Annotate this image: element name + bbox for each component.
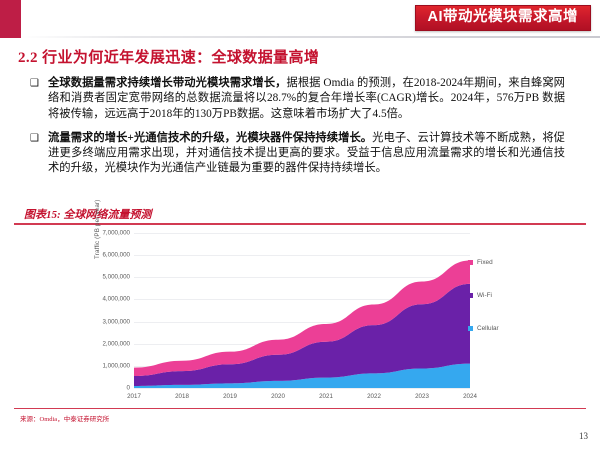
legend-label: Cellular — [477, 325, 499, 332]
legend-swatch-icon — [468, 326, 473, 331]
x-tick-label: 2020 — [271, 393, 285, 400]
figure-source: 来源：Omdia，中泰证券研究所 — [20, 413, 109, 423]
y-tick-label: 0 — [127, 385, 130, 392]
page-number: 13 — [579, 431, 588, 441]
legend-label: Fixed — [477, 259, 493, 266]
plot-area: 01,000,0002,000,0003,000,0004,000,0005,0… — [134, 233, 470, 388]
bullet-square-icon: ❑ — [30, 76, 42, 91]
legend-item[interactable]: Fixed — [468, 259, 538, 266]
legend-item[interactable]: Wi-Fi — [468, 292, 538, 299]
header-banner-title: AI带动光模块需求高增 — [415, 5, 592, 31]
y-tick-label: 4,000,000 — [102, 296, 130, 303]
area-series-svg — [134, 233, 470, 388]
section-title: 2.2 行业为何近年发展迅速：全球数据量高增 — [18, 46, 319, 67]
header-accent-bar — [0, 0, 21, 38]
bullet-square-icon: ❑ — [30, 131, 42, 146]
figure-block: 图表15: 全球网络流量预测 Traffic (PB per year) 01,… — [14, 205, 586, 429]
x-axis-ticks: 20172018201920202021202220232024 — [134, 393, 470, 405]
x-tick-label: 2022 — [367, 393, 381, 400]
figure-bottom-rule — [14, 408, 586, 409]
stacked-area-chart: Traffic (PB per year) 01,000,0002,000,00… — [84, 229, 544, 407]
x-tick-label: 2024 — [463, 393, 477, 400]
x-tick-label: 2023 — [415, 393, 429, 400]
bullet-item: ❑ 流量需求的增长+光通信技术的升级，光模块器件保持持续增长。光电子、云计算技术… — [30, 131, 565, 177]
y-tick-label: 2,000,000 — [102, 340, 130, 347]
x-tick-label: 2018 — [175, 393, 189, 400]
legend-label: Wi-Fi — [477, 292, 492, 299]
bullet-item: ❑ 全球数据量需求持续增长带动光模块需求增长，据根据 Omdia 的预测，在20… — [30, 76, 565, 122]
x-tick-label: 2019 — [223, 393, 237, 400]
bullet-lead-text: 流量需求的增长+光通信技术的升级，光模块器件保持持续增长。 — [48, 132, 372, 144]
legend-swatch-icon — [468, 293, 473, 298]
page-header: AI带动光模块需求高增 — [0, 0, 600, 40]
chart-legend: FixedWi-FiCellular — [468, 259, 538, 358]
x-tick-label: 2021 — [319, 393, 333, 400]
y-tick-label: 3,000,000 — [102, 318, 130, 325]
bullet-lead-text: 全球数据量需求持续增长带动光模块需求增长， — [48, 77, 286, 89]
bullet-text: 全球数据量需求持续增长带动光模块需求增长，据根据 Omdia 的预测，在2018… — [48, 76, 565, 122]
y-tick-label: 6,000,000 — [102, 252, 130, 259]
legend-item[interactable]: Cellular — [468, 325, 538, 332]
body-content: ❑ 全球数据量需求持续增长带动光模块需求增长，据根据 Omdia 的预测，在20… — [30, 76, 565, 186]
gridline — [134, 388, 470, 389]
figure-caption: 图表15: 全球网络流量预测 — [24, 206, 151, 222]
header-divider — [21, 36, 600, 38]
chart-series-layer — [134, 233, 470, 388]
bullet-text: 流量需求的增长+光通信技术的升级，光模块器件保持持续增长。光电子、云计算技术等不… — [48, 131, 565, 177]
y-tick-label: 5,000,000 — [102, 274, 130, 281]
y-tick-label: 7,000,000 — [102, 230, 130, 237]
y-tick-label: 1,000,000 — [102, 362, 130, 369]
x-tick-label: 2017 — [127, 393, 141, 400]
y-axis-title: Traffic (PB per year) — [94, 149, 101, 259]
legend-swatch-icon — [468, 260, 473, 265]
